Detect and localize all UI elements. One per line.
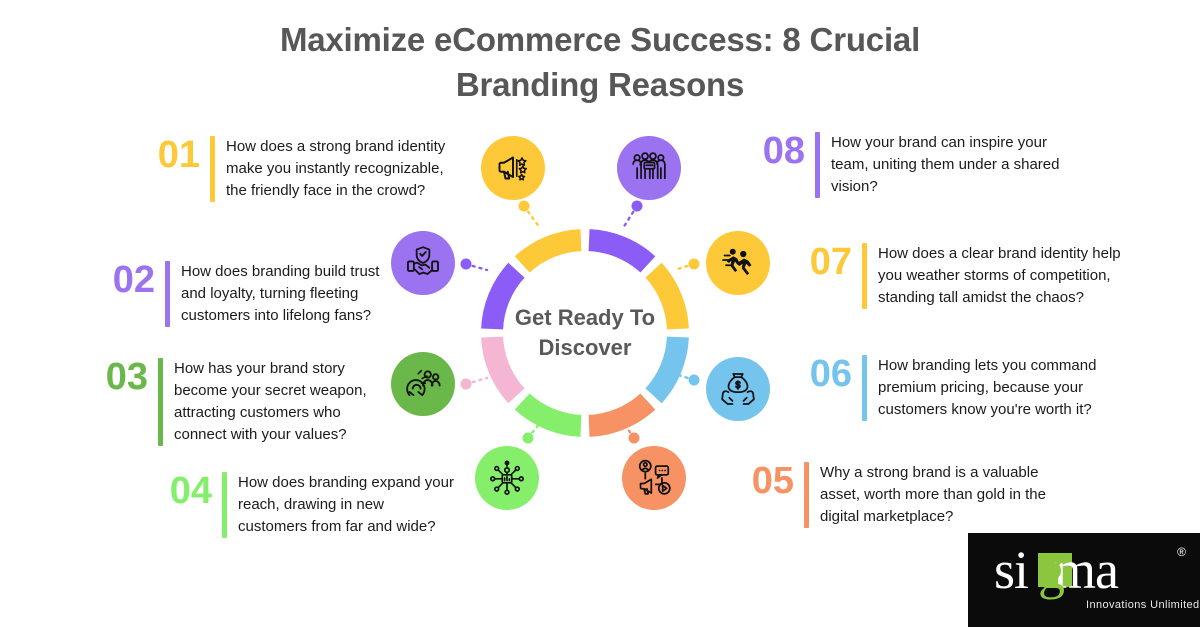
handshake-shield-icon: [404, 244, 442, 282]
reason-item-01: 01 How does a strong brand identity make…: [148, 136, 448, 202]
runners-competition-icon: [720, 245, 756, 281]
network-reach-icon: [488, 459, 526, 497]
icon-bubble-04[interactable]: [475, 446, 539, 510]
donut-segment-01[interactable]: [522, 240, 581, 264]
reason-text-03: How has your brand story become your sec…: [174, 358, 396, 446]
reason-accent-bar-05: [804, 462, 809, 528]
donut-segment-07[interactable]: [654, 270, 678, 329]
reason-item-05: 05 Why a strong brand is a valuable asse…: [742, 462, 1060, 528]
reason-number-07: 07: [800, 243, 852, 281]
donut-segment-02[interactable]: [492, 270, 516, 329]
reason-accent-bar-04: [222, 472, 227, 538]
icon-bubble-02[interactable]: [391, 231, 455, 295]
reason-text-06: How branding lets you command premium pr…: [878, 355, 1118, 421]
donut-segment-08[interactable]: [589, 240, 648, 264]
donut-segment-06[interactable]: [654, 337, 678, 396]
team-people-icon: [630, 149, 668, 187]
reason-accent-bar-01: [210, 136, 215, 202]
registered-trademark-icon: ®: [1177, 545, 1186, 559]
donut-segment-03[interactable]: [492, 337, 516, 396]
reason-text-01: How does a strong brand identity make yo…: [226, 136, 448, 202]
icon-bubble-05[interactable]: [622, 446, 686, 510]
icon-bubble-07[interactable]: [706, 231, 770, 295]
logo-tagline: Innovations Unlimited: [1086, 599, 1200, 611]
reason-text-04: How does branding expand your reach, dra…: [238, 472, 454, 538]
donut-segment-05[interactable]: [589, 402, 648, 426]
donut-ring: [470, 218, 700, 448]
reason-number-03: 03: [96, 358, 148, 396]
logo-text-g: g: [1038, 543, 1065, 597]
megaphone-stars-icon: [495, 150, 531, 186]
infographic-canvas: Maximize eCommerce Success: 8 Crucial Br…: [0, 0, 1200, 627]
reason-accent-bar-03: [158, 358, 163, 446]
reason-number-08: 08: [753, 132, 805, 170]
magnet-customers-icon: [404, 365, 442, 403]
icon-bubble-08[interactable]: [617, 136, 681, 200]
reason-item-06: 06 How branding lets you command premium…: [800, 355, 1118, 421]
page-title: Maximize eCommerce Success: 8 Crucial Br…: [230, 18, 970, 107]
donut-segment-04[interactable]: [522, 402, 581, 426]
reason-item-02: 02 How does branding build trust and loy…: [103, 261, 397, 327]
marketing-megaphone-icon: [635, 459, 673, 497]
reason-accent-bar-07: [862, 243, 867, 309]
reason-number-04: 04: [160, 472, 212, 510]
reason-number-05: 05: [742, 462, 794, 500]
reason-text-08: How your brand can inspire your team, un…: [831, 132, 1077, 198]
reason-number-02: 02: [103, 261, 155, 299]
icon-bubble-03[interactable]: [391, 352, 455, 416]
reason-item-03: 03 How has your brand story become your …: [96, 358, 396, 446]
reason-accent-bar-06: [862, 355, 867, 421]
reason-text-05: Why a strong brand is a valuable asset, …: [820, 462, 1060, 528]
reason-number-06: 06: [800, 355, 852, 393]
reason-accent-bar-02: [165, 261, 170, 327]
logo-text-si: si: [994, 540, 1028, 600]
reason-text-02: How does branding build trust and loyalt…: [181, 261, 397, 327]
sigma-logo: sigma g Innovations Unlimited ®: [968, 533, 1200, 627]
reason-item-08: 08 How your brand can inspire your team,…: [753, 132, 1077, 198]
reason-accent-bar-08: [815, 132, 820, 198]
icon-bubble-06[interactable]: [706, 357, 770, 421]
reason-item-07: 07 How does a clear brand identity help …: [800, 243, 1144, 309]
icon-bubble-01[interactable]: [481, 136, 545, 200]
reason-text-07: How does a clear brand identity help you…: [878, 243, 1144, 309]
reason-number-01: 01: [148, 136, 200, 174]
reason-item-04: 04 How does branding expand your reach, …: [160, 472, 454, 538]
money-bag-hands-icon: [719, 370, 757, 408]
